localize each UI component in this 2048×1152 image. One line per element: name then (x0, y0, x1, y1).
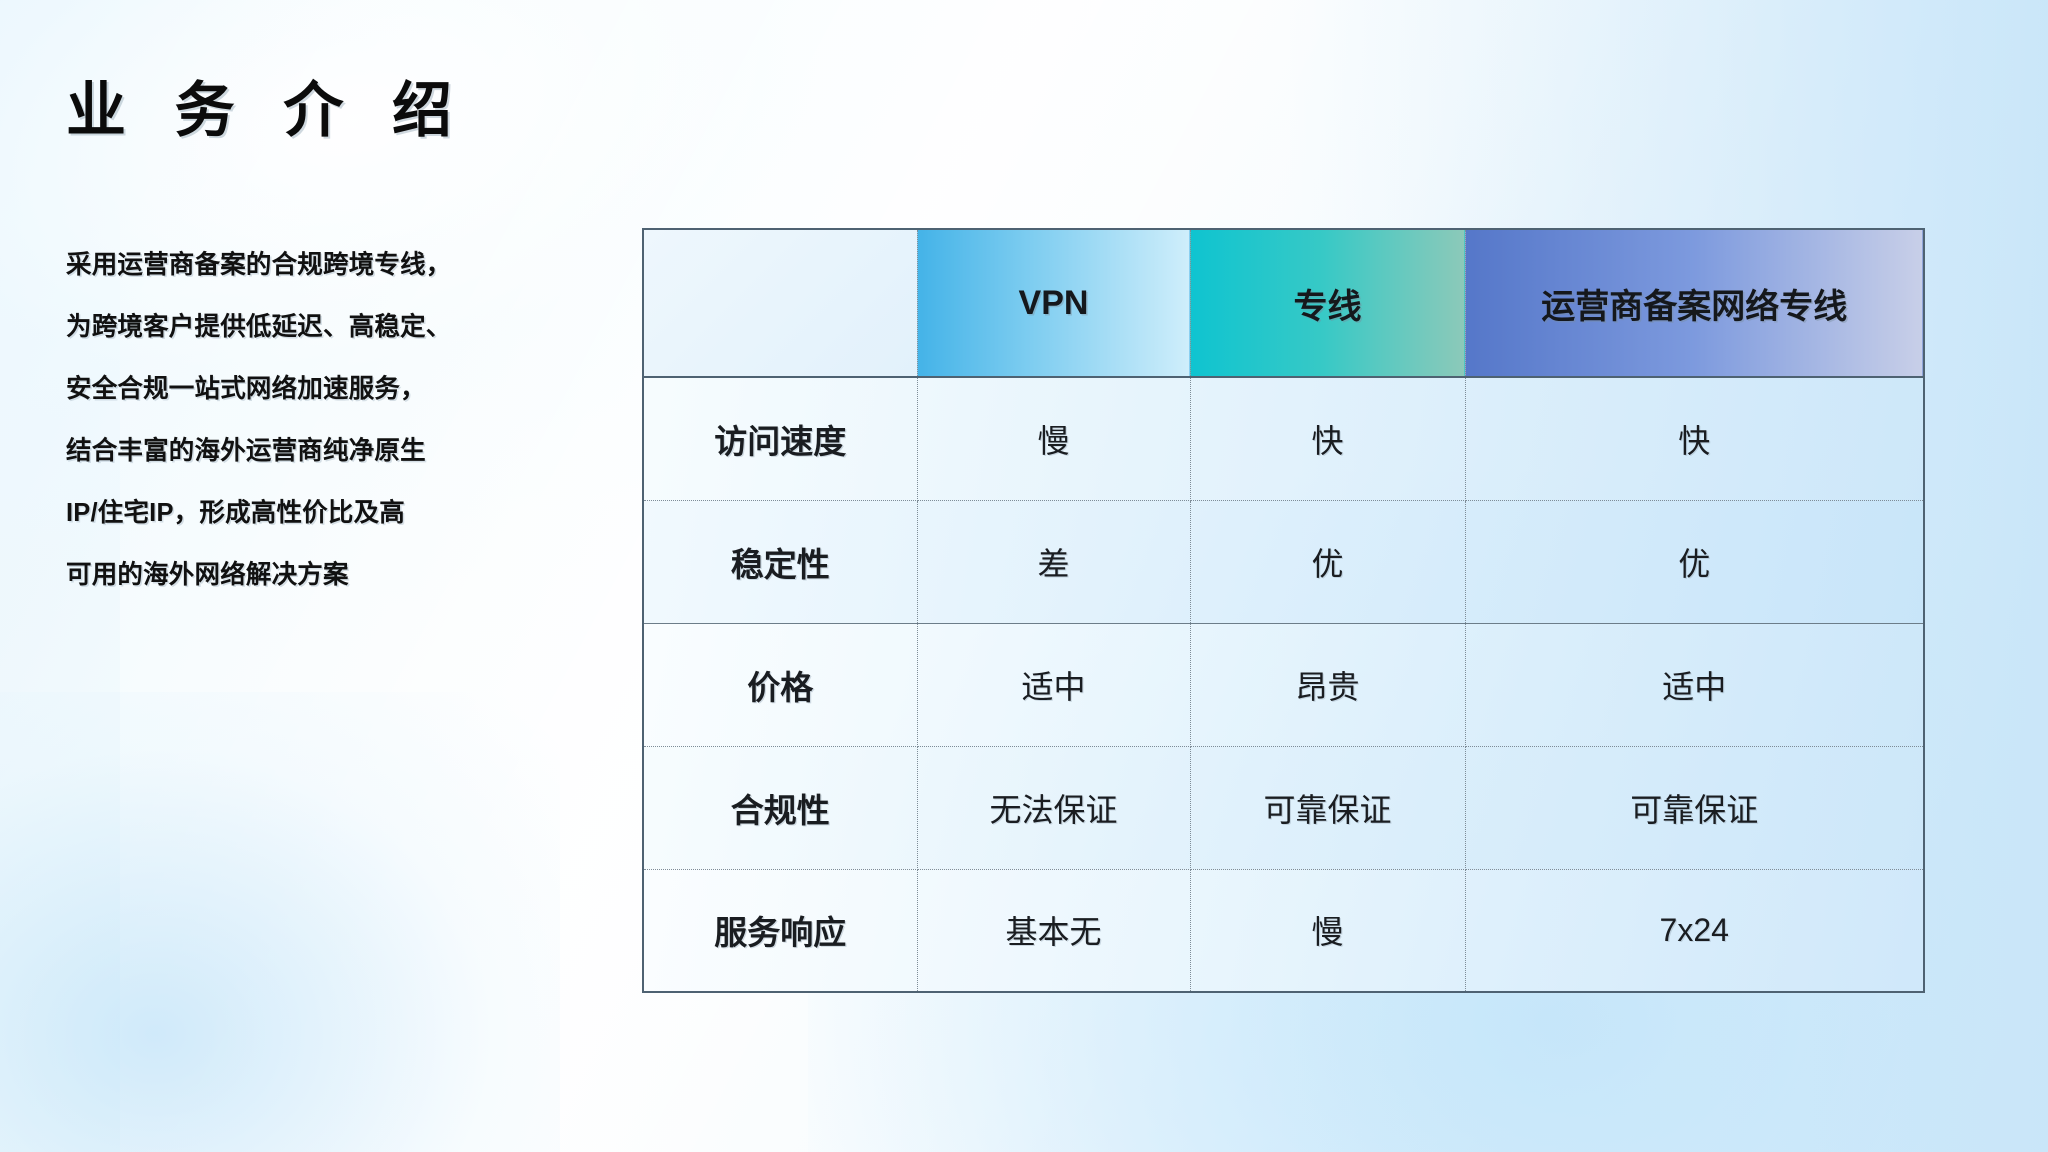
comparison-table: VPN 专线 运营商备案网络专线 访问速度 慢 快 快 稳定性 差 优 优 (642, 228, 1925, 993)
intro-line-1: 采用运营商备案的合规跨境专线， (66, 234, 626, 296)
intro-line-2: 为跨境客户提供低延迟、高稳定、 (66, 296, 626, 358)
intro-paragraph: 采用运营商备案的合规跨境专线， 为跨境客户提供低延迟、高稳定、 安全合规一站式网… (66, 234, 626, 606)
comparison-table-container: VPN 专线 运营商备案网络专线 访问速度 慢 快 快 稳定性 差 优 优 (642, 228, 1923, 993)
table-header-blank (643, 229, 917, 377)
intro-line-5: IP/住宅IP，形成高性价比及高 (66, 482, 626, 544)
row-label-compliance: 合规性 (643, 746, 917, 869)
row-label-speed: 访问速度 (643, 377, 917, 500)
table-header-line: 专线 (1190, 229, 1465, 377)
table-row: 访问速度 慢 快 快 (643, 377, 1924, 500)
slide-content: 业 务 介 绍 采用运营商备案的合规跨境专线， 为跨境客户提供低延迟、高稳定、 … (0, 0, 2048, 1152)
cell-price-carrier: 适中 (1465, 623, 1924, 746)
cell-speed-vpn: 慢 (917, 377, 1190, 500)
page-title: 业 务 介 绍 (66, 62, 468, 149)
cell-speed-line: 快 (1190, 377, 1465, 500)
cell-stability-carrier: 优 (1465, 500, 1924, 623)
table-row: 价格 适中 昂贵 适中 (643, 623, 1924, 746)
intro-line-3: 安全合规一站式网络加速服务， (66, 358, 626, 420)
table-header-carrier: 运营商备案网络专线 (1465, 229, 1924, 377)
table-header-row: VPN 专线 运营商备案网络专线 (643, 229, 1924, 377)
table-row: 稳定性 差 优 优 (643, 500, 1924, 623)
cell-stability-line: 优 (1190, 500, 1465, 623)
row-label-price: 价格 (643, 623, 917, 746)
cell-price-vpn: 适中 (917, 623, 1190, 746)
cell-stability-vpn: 差 (917, 500, 1190, 623)
cell-price-line: 昂贵 (1190, 623, 1465, 746)
intro-line-4: 结合丰富的海外运营商纯净原生 (66, 420, 626, 482)
cell-compliance-line: 可靠保证 (1190, 746, 1465, 869)
table-body: 访问速度 慢 快 快 稳定性 差 优 优 价格 适中 昂贵 适中 (643, 377, 1924, 992)
cell-speed-carrier: 快 (1465, 377, 1924, 500)
table-row: 服务响应 基本无 慢 7x24 (643, 869, 1924, 992)
cell-compliance-vpn: 无法保证 (917, 746, 1190, 869)
cell-support-line: 慢 (1190, 869, 1465, 992)
cell-support-carrier: 7x24 (1465, 869, 1924, 992)
intro-line-6: 可用的海外网络解决方案 (66, 544, 626, 606)
row-label-stability: 稳定性 (643, 500, 917, 623)
table-header-vpn: VPN (917, 229, 1190, 377)
cell-support-vpn: 基本无 (917, 869, 1190, 992)
row-label-support: 服务响应 (643, 869, 917, 992)
cell-compliance-carrier: 可靠保证 (1465, 746, 1924, 869)
table-header: VPN 专线 运营商备案网络专线 (643, 229, 1924, 377)
table-row: 合规性 无法保证 可靠保证 可靠保证 (643, 746, 1924, 869)
